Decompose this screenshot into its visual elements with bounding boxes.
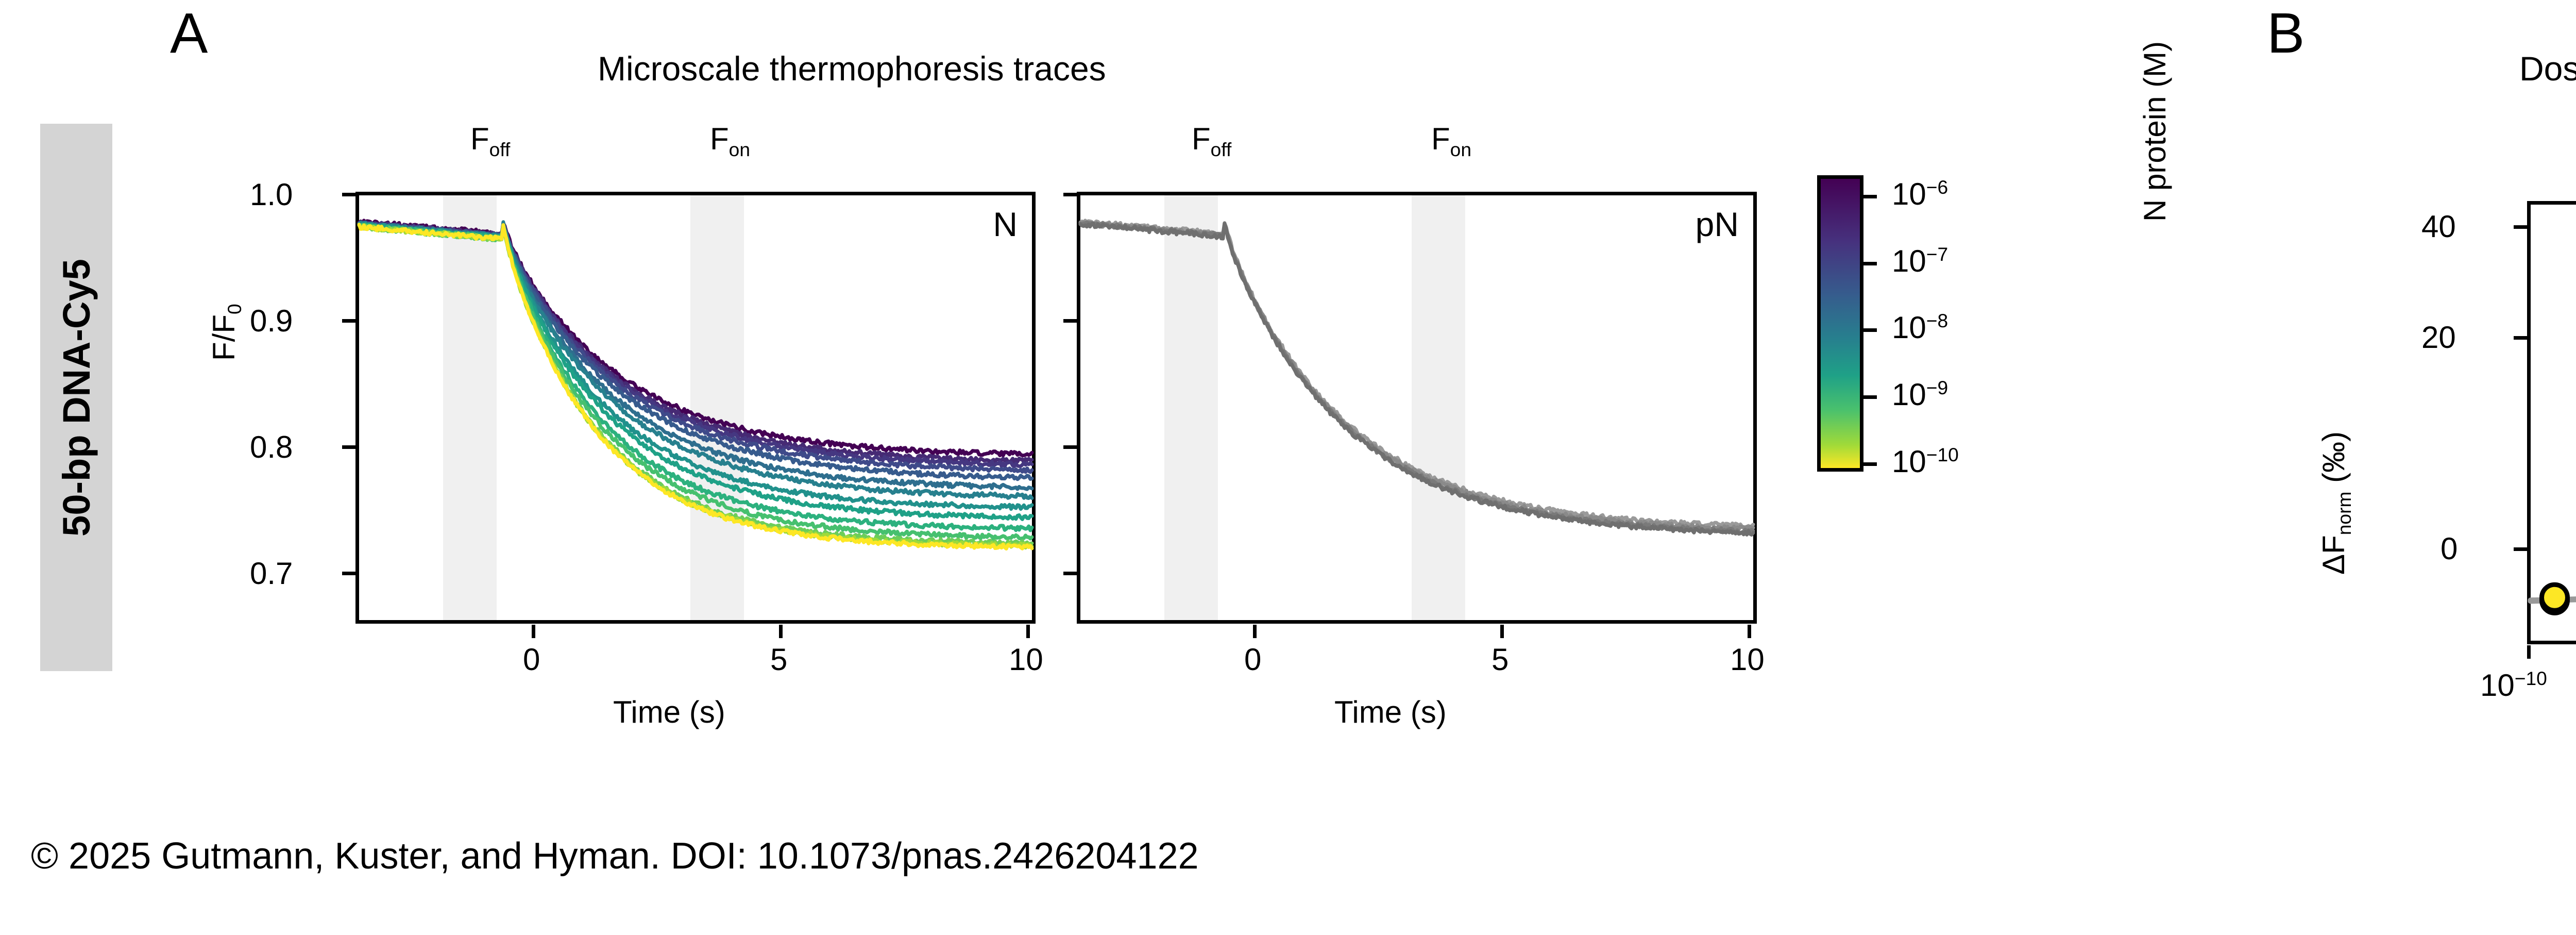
panel-a-pn-xlabel-10: 10 xyxy=(1730,644,1765,675)
trace-line xyxy=(359,223,1032,479)
panel-b-series xyxy=(2531,205,2576,641)
foff-f2: F xyxy=(1192,122,1211,156)
cbar-tick-label-4: 10−9 xyxy=(1892,378,1948,410)
panel-a-pn-traces xyxy=(1080,195,1753,620)
foff-f: F xyxy=(470,122,489,156)
panel-b-xtickmark-1 xyxy=(2527,645,2531,659)
fit-curve-n xyxy=(2531,244,2576,600)
panel-b-ylabel-main: ΔF xyxy=(2316,535,2351,575)
panel-b-ytickmark-0 xyxy=(2514,547,2527,551)
panel-a-pn-xlabel-0: 0 xyxy=(1244,644,1261,675)
bx-base-1: 10 xyxy=(2480,668,2515,703)
panel-a-pn-xaxis-label: Time (s) xyxy=(1334,697,1447,728)
panel-b-ytickmark-40 xyxy=(2514,225,2527,229)
panel-a-pn-plot: pN xyxy=(1077,192,1757,624)
panel-a-n-plot: N xyxy=(355,192,1036,624)
panel-b-ytickmark-20 xyxy=(2514,336,2527,340)
panel-b-ylabel-sub: norm xyxy=(2333,492,2355,536)
panel-a-n-fon-label: Fon xyxy=(710,124,750,159)
panel-letter-a: A xyxy=(170,5,208,62)
panel-a-ytickmark-3 xyxy=(342,445,355,449)
fon-f2: F xyxy=(1431,122,1450,156)
panel-b-ylabel-unit: (‰) xyxy=(2316,431,2351,492)
panel-letter-b: B xyxy=(2267,5,2304,62)
panel-a-ytick-3: 0.8 xyxy=(250,432,293,463)
panel-a-ytick-2: 0.9 xyxy=(250,306,293,337)
cbar-tickmark-5 xyxy=(1863,462,1877,466)
pn-xtick-0 xyxy=(1253,625,1257,638)
trace-line xyxy=(359,225,1032,545)
foff-sub: off xyxy=(489,139,511,160)
figure-root: 50-bp DNA-Cy5 A Microscale thermophoresi… xyxy=(0,0,2576,935)
panel-a-pn-tag: pN xyxy=(1696,205,1739,244)
cbar-tickmark-4 xyxy=(1863,395,1877,399)
pn-ytickmark-4 xyxy=(1063,572,1077,575)
fon-f: F xyxy=(710,122,729,156)
cbar-tick-label-5: 10−10 xyxy=(1892,445,1959,477)
panel-a-n-traces xyxy=(359,195,1032,620)
cbar-base-3: 10 xyxy=(1892,310,1926,345)
panel-a-n-xlabel-0: 0 xyxy=(523,644,540,675)
pn-ytickmark-1 xyxy=(1063,193,1077,196)
panel-b-ylabel: ΔFnorm (‰) xyxy=(2318,431,2354,575)
cbar-tick-label-3: 10−8 xyxy=(1892,311,1948,343)
cbar-tickmark-2 xyxy=(1863,262,1877,265)
panel-b-xtick-1: 10−10 xyxy=(2480,669,2547,701)
trace-line xyxy=(1080,222,1753,532)
panel-b-title: Dose-response curves xyxy=(2519,49,2576,88)
row-label: 50-bp DNA-Cy5 xyxy=(40,124,112,671)
fon-sub2: on xyxy=(1450,139,1471,160)
trace-line xyxy=(359,222,1032,489)
colorbar xyxy=(1817,175,1863,472)
panel-a-pn-xlabel-5: 5 xyxy=(1492,644,1509,675)
trace-line xyxy=(1080,223,1753,535)
colorbar-axis-label: N protein (M) xyxy=(2137,222,2317,257)
cbar-exp-2: −7 xyxy=(1926,243,1948,265)
foff-sub2: off xyxy=(1211,139,1232,160)
trace-line xyxy=(1080,221,1753,527)
cbar-tickmark-1 xyxy=(1863,195,1877,198)
bx-exp-1: −10 xyxy=(2515,667,2547,689)
panel-a-ylabel: F/F0 xyxy=(209,304,244,361)
n-xtick-0 xyxy=(532,625,535,638)
panel-a-n-xlabel-10: 10 xyxy=(1009,644,1043,675)
pn-xtick-5 xyxy=(1500,625,1504,638)
cbar-base-4: 10 xyxy=(1892,377,1926,412)
panel-b-plot xyxy=(2527,201,2576,644)
panel-a-n-xaxis-label: Time (s) xyxy=(613,697,725,728)
panel-a-ylabel-sub: 0 xyxy=(224,304,245,314)
cbar-exp-1: −6 xyxy=(1926,176,1948,198)
panel-a-ytick-1: 1.0 xyxy=(250,179,293,210)
panel-a-ytickmark-1 xyxy=(342,193,355,196)
cbar-tickmark-3 xyxy=(1863,328,1877,332)
panel-a-n-xlabel-5: 5 xyxy=(770,644,787,675)
panel-a-pn-foff-label: Foff xyxy=(1192,124,1231,159)
row-label-text: 50-bp DNA-Cy5 xyxy=(55,259,98,537)
cbar-tick-label-1: 10−6 xyxy=(1892,178,1948,210)
cbar-base-2: 10 xyxy=(1892,244,1926,278)
panel-a-ylabel-main: F/F xyxy=(207,314,241,361)
trace-line xyxy=(1080,222,1753,531)
panel-a-ytickmark-4 xyxy=(342,572,355,575)
cbar-exp-5: −10 xyxy=(1926,444,1959,465)
n-xtick-10 xyxy=(1026,625,1030,638)
cbar-base-1: 10 xyxy=(1892,177,1926,211)
figure-caption: © 2025 Gutmann, Kuster, and Hyman. DOI: … xyxy=(31,835,1199,877)
panel-b-ytick-0: 0 xyxy=(2441,533,2458,564)
pn-ytickmark-3 xyxy=(1063,445,1077,449)
panel-b-ytick-40: 40 xyxy=(2421,211,2456,242)
panel-a-ytickmark-2 xyxy=(342,319,355,323)
cbar-exp-4: −9 xyxy=(1926,377,1948,398)
colorbar-label-text: N protein (M) xyxy=(2137,41,2173,222)
pn-ytickmark-2 xyxy=(1063,319,1077,323)
panel-a-n-foff-label: Foff xyxy=(470,124,510,159)
n-xtick-5 xyxy=(779,625,783,638)
cbar-tick-label-2: 10−7 xyxy=(1892,245,1948,277)
fon-sub: on xyxy=(729,139,750,160)
panel-b-ytick-20: 20 xyxy=(2421,322,2456,353)
cbar-exp-3: −8 xyxy=(1926,310,1948,331)
data-point xyxy=(2541,585,2567,610)
pn-xtick-10 xyxy=(1748,625,1751,638)
cbar-base-5: 10 xyxy=(1892,444,1926,479)
trace-line xyxy=(359,225,1032,547)
panel-a-n-tag: N xyxy=(993,205,1018,244)
panel-a-ytick-4: 0.7 xyxy=(250,558,293,589)
panel-a-title: Microscale thermophoresis traces xyxy=(598,49,1106,88)
trace-line xyxy=(359,225,1032,549)
panel-a-pn-fon-label: Fon xyxy=(1431,124,1471,159)
